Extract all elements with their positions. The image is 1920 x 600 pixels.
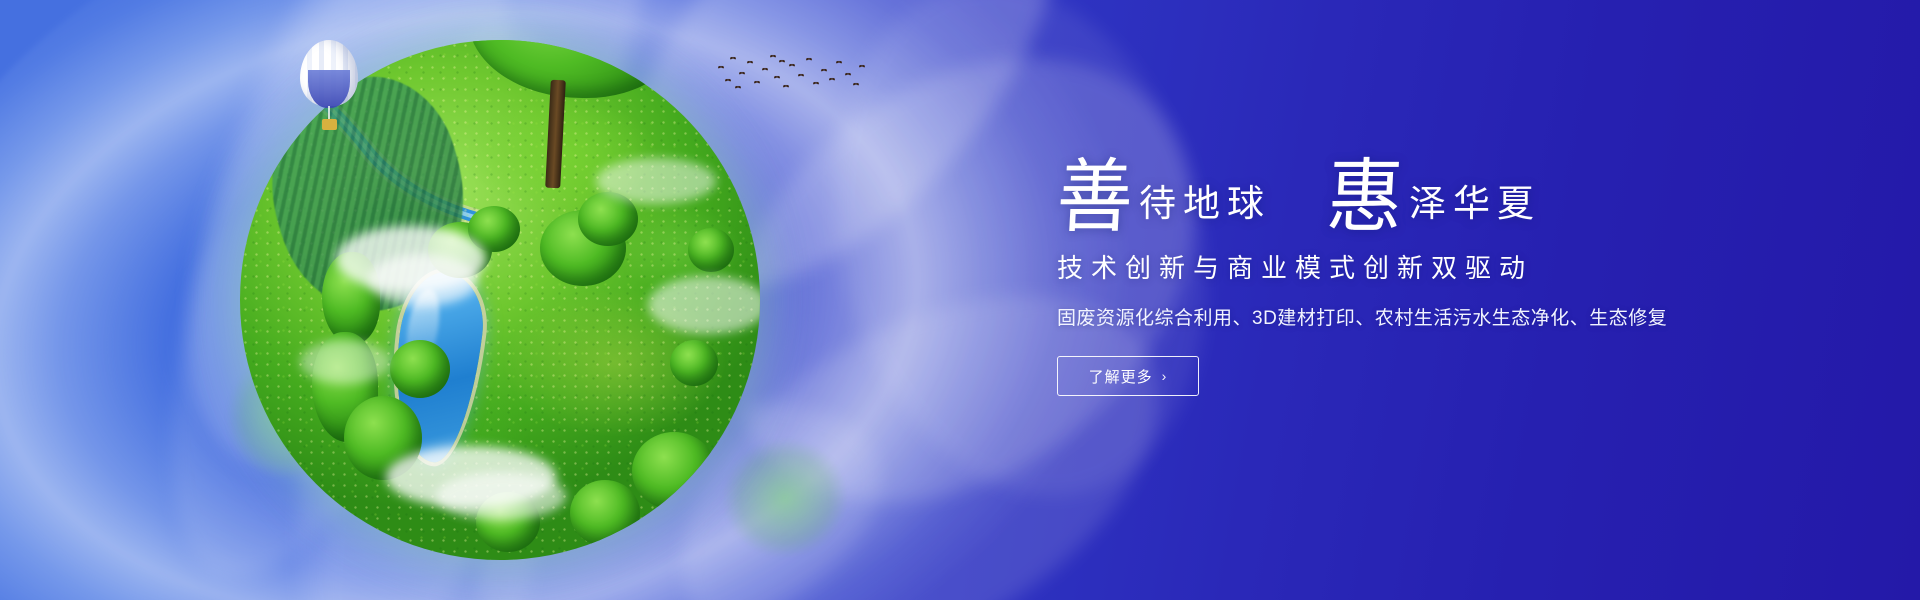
- cloud: [300, 340, 390, 384]
- hero-copy: 善 待地球 惠 泽华夏 技术创新与商业模式创新双驱动 固废资源化综合利用、3D建…: [1057, 146, 1777, 396]
- headline-text-small-1: 待地球: [1133, 186, 1271, 232]
- tree: [390, 340, 450, 398]
- page-title: 善 待地球 惠 泽华夏: [1057, 146, 1777, 232]
- tree: [570, 480, 640, 546]
- hot-air-balloon-icon: [300, 40, 358, 136]
- cloud: [368, 254, 478, 306]
- cloud: [436, 472, 566, 520]
- tree: [688, 228, 734, 272]
- description: 固废资源化综合利用、3D建材打印、农村生活污水生态净化、生态修复: [1057, 303, 1777, 330]
- headline-char-large-1: 善: [1055, 160, 1135, 234]
- cloud: [648, 276, 760, 334]
- learn-more-label: 了解更多: [1089, 366, 1153, 387]
- tree: [670, 340, 718, 386]
- subtitle: 技术创新与商业模式创新双驱动: [1057, 248, 1777, 285]
- bird-flock-icon: [718, 52, 868, 100]
- chevron-right-icon: ›: [1162, 368, 1168, 384]
- tree: [632, 432, 716, 510]
- cloud: [596, 158, 716, 204]
- headline-char-large-2: 惠: [1325, 160, 1405, 234]
- headline-text-small-2: 泽华夏: [1403, 186, 1541, 232]
- hero-banner: 善 待地球 惠 泽华夏 技术创新与商业模式创新双驱动 固废资源化综合利用、3D建…: [0, 0, 1920, 600]
- learn-more-button[interactable]: 了解更多 ›: [1057, 356, 1199, 396]
